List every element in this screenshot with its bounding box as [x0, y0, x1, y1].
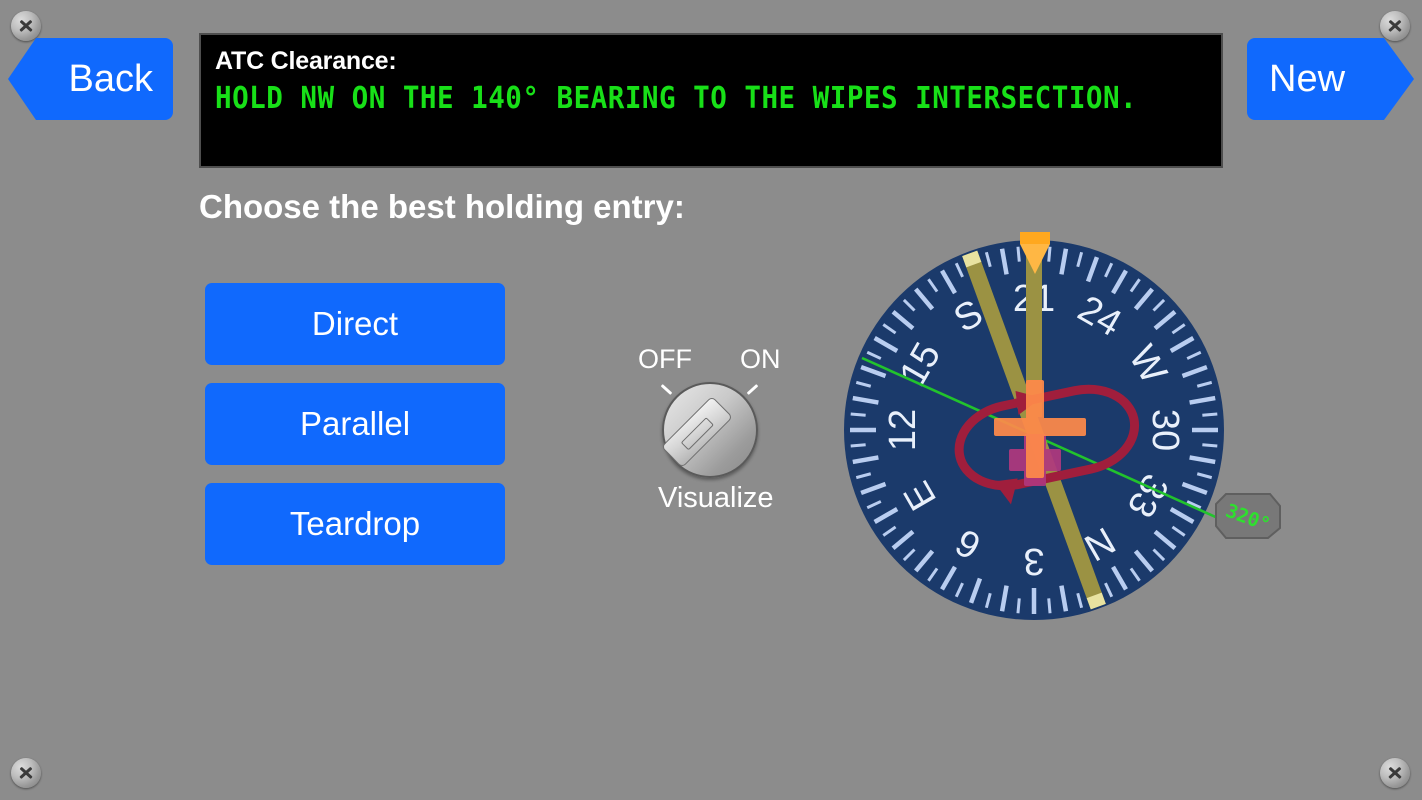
- atc-clearance-label: ATC Clearance:: [215, 47, 1207, 76]
- switch-on-notch-icon: [747, 384, 759, 395]
- corner-screw-bottom-right: [1380, 758, 1410, 788]
- switch-caption: Visualize: [658, 482, 774, 515]
- corner-screw-bottom-left: [11, 758, 41, 788]
- visualize-knob[interactable]: [662, 382, 758, 478]
- hsi-tick: [1049, 598, 1050, 613]
- hsi-tick: [1049, 247, 1050, 262]
- back-button-label: Back: [69, 58, 153, 101]
- hsi-tick: [851, 445, 866, 446]
- new-button-label: New: [1269, 58, 1345, 101]
- option-teardrop-button[interactable]: Teardrop: [205, 483, 505, 565]
- knob-slot-icon: [680, 417, 713, 450]
- new-button[interactable]: New: [1247, 38, 1414, 120]
- hsi-heading-label: 3: [1023, 540, 1044, 582]
- atc-clearance-message: HOLD NW ON THE 140° BEARING TO THE WIPES…: [215, 81, 1128, 116]
- corner-screw-top-left: [11, 11, 41, 41]
- hsi-tick: [1202, 445, 1217, 446]
- option-direct-button[interactable]: Direct: [205, 283, 505, 365]
- switch-off-notch-icon: [661, 384, 673, 395]
- switch-on-label: ON: [740, 344, 781, 375]
- knob-pointer-icon: [661, 396, 733, 468]
- hsi-tick: [1018, 247, 1019, 262]
- hsi-tick: [851, 414, 866, 415]
- hsi-tick: [1202, 414, 1217, 415]
- page-title: Choose the best holding entry:: [199, 188, 685, 226]
- hsi-heading-label: 30: [1144, 409, 1186, 451]
- hsi-compass-rose[interactable]: 2124W3033N36E1215S 320°: [836, 228, 1240, 632]
- holding-entry-options: Direct Parallel Teardrop: [205, 283, 505, 583]
- atc-clearance-panel: ATC Clearance: HOLD NW ON THE 140° BEARI…: [199, 33, 1223, 168]
- corner-screw-top-right: [1380, 11, 1410, 41]
- switch-off-label: OFF: [638, 344, 692, 375]
- visualize-switch[interactable]: OFF ON Visualize: [620, 340, 800, 525]
- back-button[interactable]: Back: [8, 38, 173, 120]
- option-parallel-button[interactable]: Parallel: [205, 383, 505, 465]
- hsi-tick: [1018, 598, 1019, 613]
- hsi-heading-label: 12: [882, 409, 924, 451]
- hsi-bearing-tag: 320°: [1214, 490, 1282, 542]
